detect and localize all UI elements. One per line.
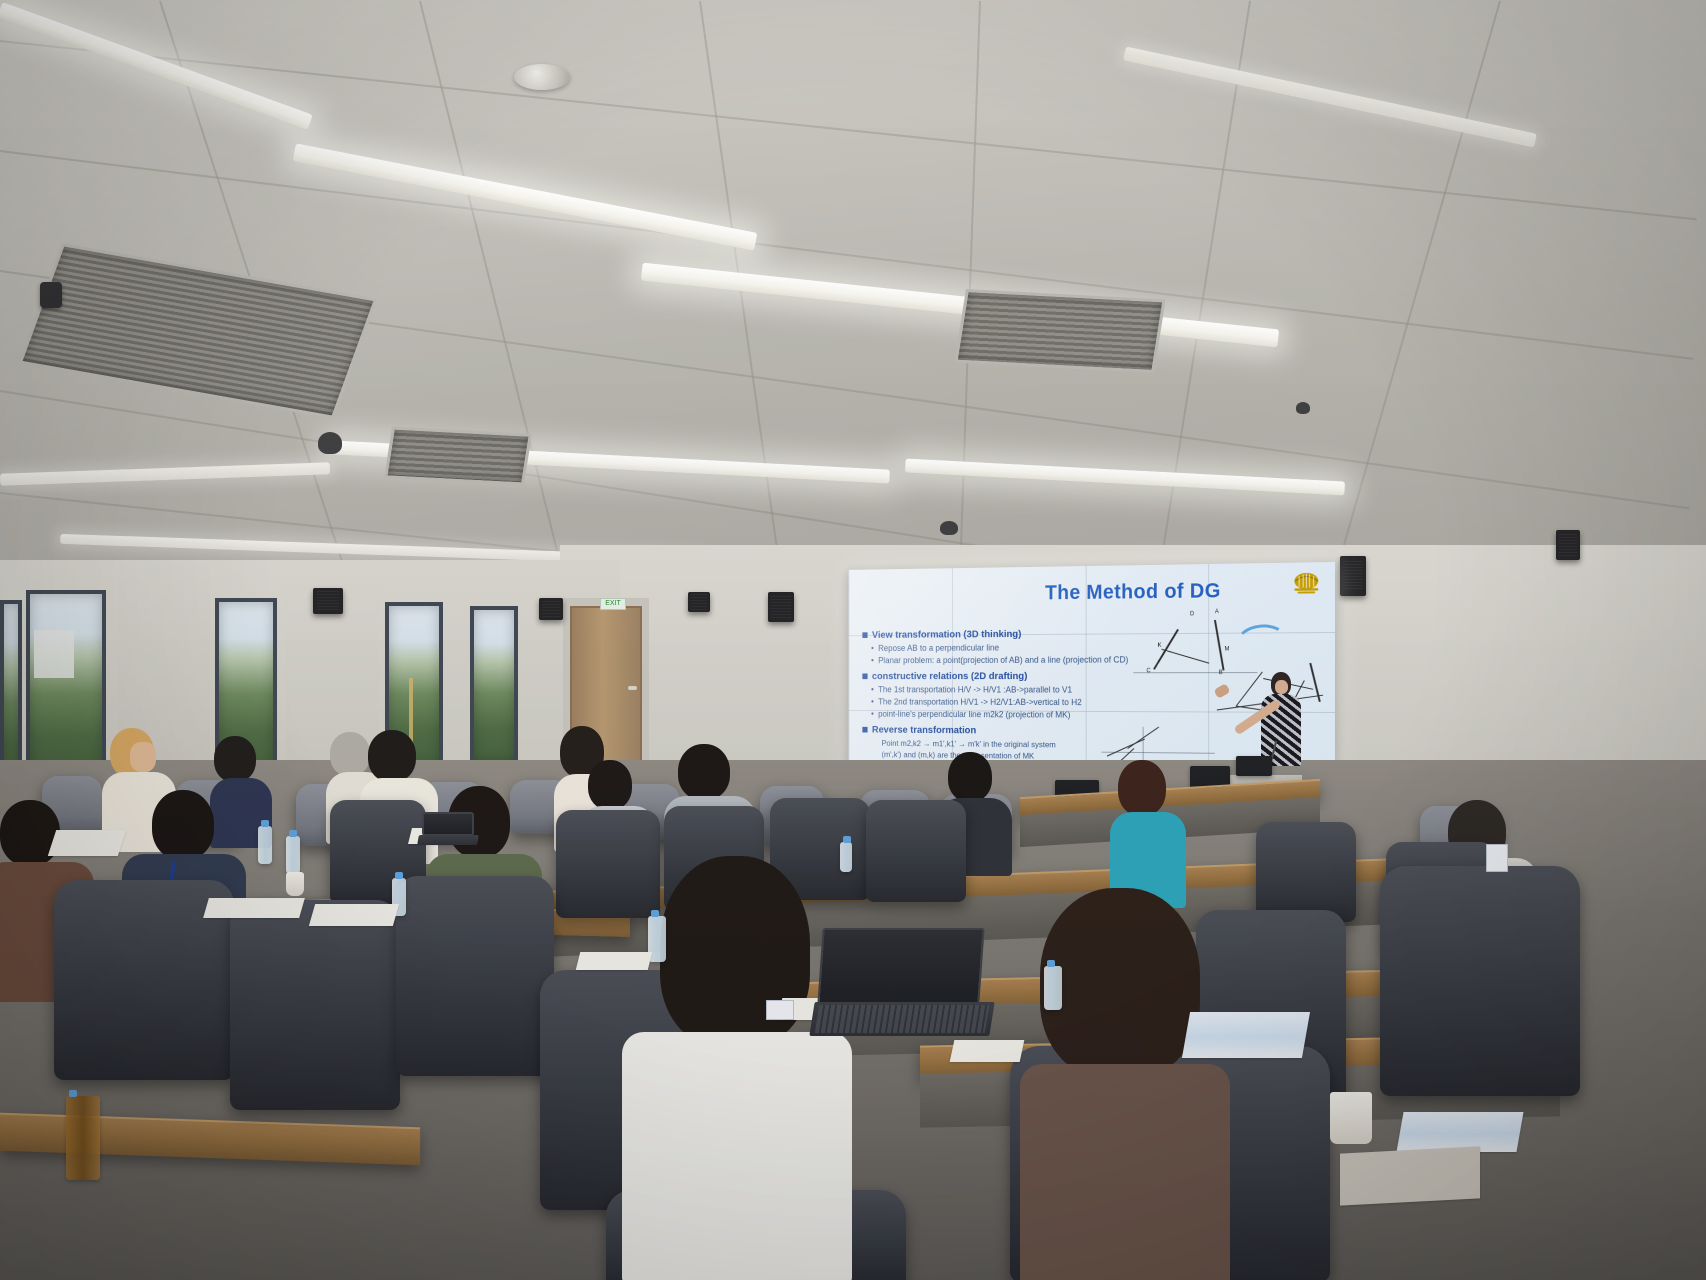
ceiling-camera-3-icon	[1296, 402, 1310, 414]
bullet-dot-icon: •	[871, 657, 874, 665]
slide-bullet-list: View transformation (3D thinking) • Repo…	[862, 622, 1133, 764]
chair-mid-6[interactable]	[1256, 822, 1356, 922]
notepad-bottom-right	[1340, 1146, 1480, 1205]
bullet-square-icon	[862, 727, 867, 733]
window-4	[470, 606, 518, 766]
slide-bullet-1: • Repose AB to a perpendicular line	[871, 642, 1133, 653]
wall-speaker-3	[688, 592, 710, 612]
wall-speaker-2	[539, 598, 563, 620]
document-2	[203, 898, 305, 918]
attendee-head	[330, 732, 370, 776]
window-1-building	[34, 630, 74, 677]
attendee-torso	[1020, 1064, 1230, 1280]
slide-bullet-2: • Planar problem: a point(projection of …	[871, 655, 1133, 665]
ceiling-camera-2-icon	[940, 521, 958, 535]
smoke-detector-icon	[514, 64, 570, 90]
attendee-head	[948, 752, 992, 802]
ceiling-speaker-1	[40, 282, 62, 308]
water-bottle-1[interactable]	[258, 826, 272, 864]
ceiling	[0, 0, 1706, 600]
wall-speaker-4	[768, 592, 794, 622]
water-bottle-5[interactable]	[1044, 966, 1062, 1010]
window-1	[26, 590, 106, 780]
window-5	[0, 600, 22, 786]
bullet-dot-icon: •	[871, 698, 874, 706]
paper-cup-1[interactable]	[286, 872, 304, 896]
bullet-dot-icon: •	[871, 686, 874, 694]
chair-mid-2[interactable]	[556, 810, 660, 918]
water-bottle-4[interactable]	[840, 842, 852, 872]
bullet-dot-icon: •	[871, 710, 874, 718]
attendee-head	[368, 730, 416, 782]
rotation-arrow-icon	[1235, 622, 1289, 661]
paper-cup-2[interactable]	[1330, 1092, 1372, 1144]
laptop-1-screen	[817, 928, 984, 1004]
document-4	[576, 952, 652, 970]
laptop-2[interactable]	[418, 812, 478, 848]
slide-bullet-7: Reverse transformation	[862, 724, 1133, 737]
attendee-head	[152, 790, 214, 860]
ceiling-camera-1-icon	[318, 432, 342, 454]
name-badge-2	[766, 1000, 794, 1020]
attendee-head	[1040, 888, 1200, 1078]
attendee-head	[678, 744, 730, 800]
air-vent-3	[384, 427, 532, 486]
desk-monitor-3	[1236, 756, 1272, 776]
slide-bullet-6: • point-line's perpendicular line m2k2 (…	[871, 709, 1133, 720]
attendee-head	[1118, 760, 1166, 816]
bullet-dot-icon: •	[871, 644, 874, 652]
document-8	[1396, 1112, 1523, 1152]
wall-speaker-1	[313, 588, 343, 614]
air-vent-2	[954, 289, 1165, 373]
attendee-head	[588, 760, 632, 810]
wall-speaker-6	[1556, 530, 1580, 560]
university-crest-logo	[1290, 570, 1323, 596]
document-1	[48, 830, 126, 856]
lecture-room-photo: EXIT The Method of DG	[0, 0, 1706, 1280]
slide-bullet-5: • The 2nd transportation H/V1 -> H2/V1:A…	[871, 697, 1133, 707]
wall-speaker-5	[1340, 556, 1366, 596]
laptop-1-keys[interactable]	[815, 1005, 989, 1033]
name-badge-1	[1486, 844, 1508, 872]
attendee-face	[130, 742, 156, 772]
exit-sign: EXIT	[600, 598, 626, 610]
laptop-1-keyboard[interactable]	[809, 1002, 994, 1036]
laptop-2-keyboard[interactable]	[417, 835, 479, 845]
document-7	[1182, 1012, 1310, 1058]
slide-title: The Method of DG	[848, 578, 1319, 607]
attendee-head	[214, 736, 256, 782]
slide-bullet-0: View transformation (3D thinking)	[862, 628, 1133, 641]
bullet-square-icon	[862, 632, 867, 638]
laptop-1[interactable]	[812, 928, 990, 1038]
door-handle[interactable]	[628, 686, 637, 690]
water-bottle-2[interactable]	[286, 836, 300, 874]
document-9	[950, 1040, 1025, 1062]
slide-bullet-8: Point m2,k2 → m1',k1' → m'k' in the orig…	[882, 738, 1134, 750]
document-3	[309, 904, 399, 926]
chair-near-2[interactable]	[230, 900, 400, 1110]
water-bottle-6[interactable]	[66, 1096, 100, 1180]
chair-mid-5[interactable]	[866, 800, 966, 902]
presenter-face	[1275, 680, 1288, 694]
chair-near-6[interactable]	[1380, 866, 1580, 1096]
laptop-2-screen	[422, 812, 474, 836]
chair-near-3[interactable]	[396, 876, 554, 1076]
attendee-torso	[622, 1032, 852, 1280]
slide-bullet-4: • The 1st transportation H/V -> H/V1 :AB…	[871, 685, 1133, 695]
attendee-head	[0, 800, 60, 866]
slide-bullet-3: constructive relations (2D drafting)	[862, 670, 1133, 682]
bullet-square-icon	[862, 674, 867, 680]
